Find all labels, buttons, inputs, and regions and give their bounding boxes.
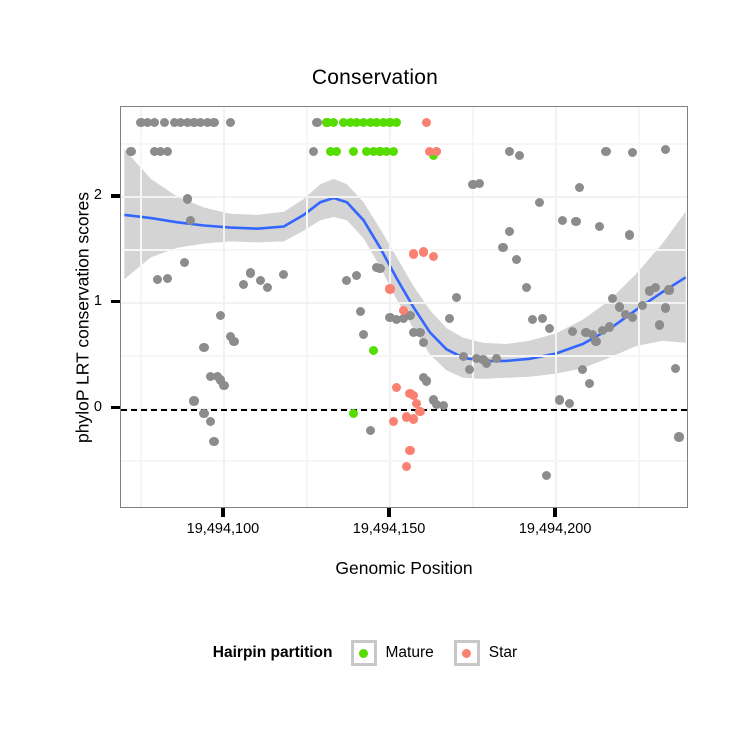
y-axis-tick-label: 0 [78, 399, 102, 415]
scatter-point-other [482, 358, 491, 367]
grid-line-vertical [140, 107, 142, 507]
scatter-point-other [186, 216, 195, 225]
grid-line-horizontal [121, 143, 687, 145]
legend-key-box [351, 640, 377, 666]
scatter-point-mature [349, 147, 358, 156]
scatter-point-other [312, 118, 321, 127]
scatter-point-other [356, 307, 365, 316]
scatter-point-star [409, 249, 418, 258]
scatter-point-other [219, 381, 228, 390]
scatter-point-other [180, 258, 189, 267]
scatter-point-other [153, 275, 162, 284]
scatter-point-other [625, 230, 634, 239]
scatter-point-other [246, 268, 255, 277]
scatter-point-star [429, 252, 438, 261]
legend-item-mature[interactable]: Mature [351, 640, 454, 666]
legend-key-box [454, 640, 480, 666]
scatter-point-mature [369, 346, 378, 355]
x-axis-tick-label: 19,494,200 [485, 521, 625, 537]
x-axis-title: Genomic Position [120, 558, 688, 579]
y-axis-tick [111, 300, 120, 303]
x-axis-tick [221, 508, 224, 517]
scatter-point-other [565, 399, 574, 408]
grid-line-horizontal [121, 355, 687, 357]
scatter-point-other [498, 243, 507, 252]
scatter-point-other [415, 328, 424, 337]
legend-dot-icon [462, 649, 471, 658]
legend-item-label: Mature [386, 644, 434, 662]
scatter-point-other [585, 379, 594, 388]
x-axis-tick [553, 508, 556, 517]
legend-title: Hairpin partition [213, 644, 333, 662]
scatter-point-other [571, 217, 580, 226]
y-axis-title: phyloP LRT conservation scores [73, 118, 94, 518]
scatter-point-other [439, 401, 448, 410]
scatter-point-other [279, 270, 288, 279]
scatter-point-other [183, 194, 192, 203]
scatter-point-other [575, 183, 584, 192]
y-axis-tick-label: 2 [78, 187, 102, 203]
grid-line-vertical [555, 107, 557, 507]
scatter-point-star [399, 306, 408, 315]
scatter-point-star [419, 247, 428, 256]
scatter-point-other [422, 376, 431, 385]
scatter-point-other [199, 343, 208, 352]
grid-line-vertical [223, 107, 225, 507]
scatter-point-other [512, 255, 521, 264]
chart-title: Conservation [0, 66, 750, 90]
grid-line-vertical [472, 107, 474, 507]
scatter-point-other [126, 147, 135, 156]
scatter-point-other [674, 432, 683, 441]
legend-item-label: Star [489, 644, 517, 662]
x-axis-tick-label: 19,494,150 [319, 521, 459, 537]
grid-line-vertical [389, 107, 391, 507]
scatter-point-other [601, 147, 610, 156]
y-axis-tick-label: 1 [78, 293, 102, 309]
grid-line-horizontal [121, 249, 687, 251]
scatter-point-other [475, 179, 484, 188]
grid-line-vertical [306, 107, 308, 507]
scatter-point-other [359, 330, 368, 339]
scatter-point-other [163, 147, 172, 156]
grid-line-horizontal [121, 196, 687, 198]
scatter-point-other [535, 198, 544, 207]
scatter-point-other [163, 274, 172, 283]
x-axis-tick-label: 19,494,100 [153, 521, 293, 537]
scatter-point-other [209, 437, 218, 446]
scatter-point-mature [389, 147, 398, 156]
legend: Hairpin partition MatureStar [0, 640, 750, 666]
scatter-point-other [206, 417, 215, 426]
scatter-point-other [366, 426, 375, 435]
y-axis-tick [111, 194, 120, 197]
scatter-point-other [545, 324, 554, 333]
scatter-point-other [542, 471, 551, 480]
legend-dot-icon [359, 649, 368, 658]
scatter-point-star [389, 417, 398, 426]
scatter-point-star [409, 414, 418, 423]
x-axis-tick [387, 508, 390, 517]
scatter-point-other [452, 293, 461, 302]
grid-line-horizontal [121, 302, 687, 304]
scatter-point-other [555, 395, 564, 404]
scatter-point-other [661, 303, 670, 312]
legend-item-star[interactable]: Star [454, 640, 537, 666]
scatter-point-other [209, 118, 218, 127]
scatter-point-star [385, 284, 394, 293]
scatter-point-other [229, 337, 238, 346]
scatter-point-star [405, 446, 414, 455]
legend-items: MatureStar [351, 640, 538, 666]
plot-panel [120, 106, 688, 508]
scatter-point-other [605, 322, 614, 331]
scatter-point-other [459, 352, 468, 361]
y-axis-tick [111, 406, 120, 409]
scatter-point-other [655, 320, 664, 329]
scatter-point-other [189, 396, 198, 405]
scatter-point-other [595, 222, 604, 231]
scatter-point-other [664, 285, 673, 294]
